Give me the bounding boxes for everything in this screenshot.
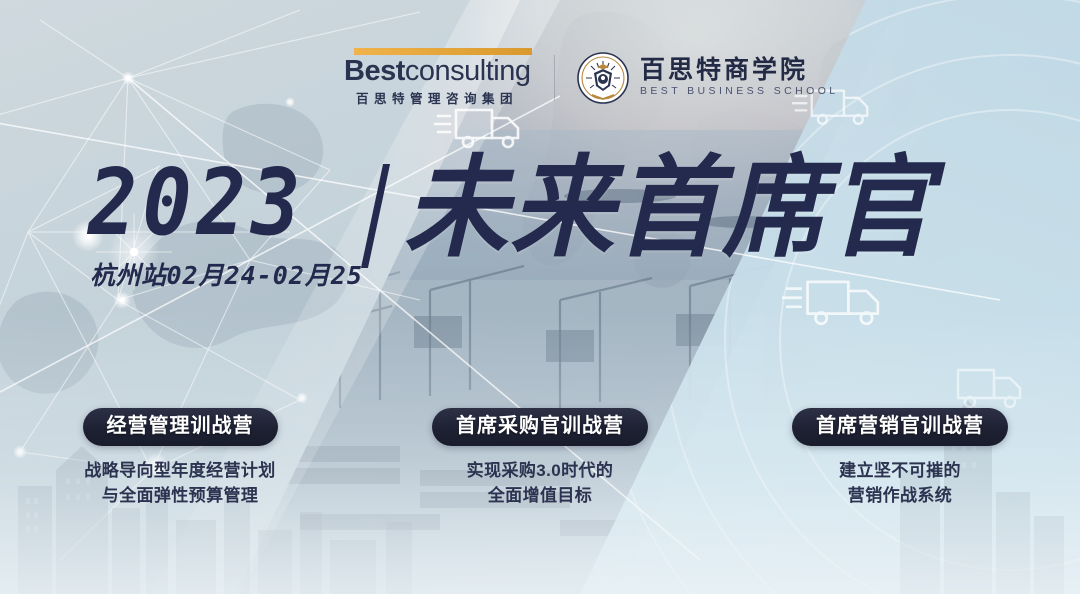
event-city: 杭州站 xyxy=(90,262,167,290)
course-description: 实现采购3.0时代的 全面增值目标 xyxy=(467,459,614,508)
course-card[interactable]: 首席营销官训战营 建立坚不可摧的 营销作战系统 xyxy=(720,408,1080,508)
course-description-line: 与全面弹性预算管理 xyxy=(84,484,275,509)
banner-content: Bestconsulting 百思特管理咨询集团 xyxy=(0,0,1080,594)
course-card-list: 经营管理训战营 战略导向型年度经营计划 与全面弹性预算管理 首席采购官训战营 实… xyxy=(0,408,1080,508)
school-english-name: BEST BUSINESS SCHOOL xyxy=(640,86,839,97)
course-description-line: 战略导向型年度经营计划 xyxy=(84,459,275,484)
course-title: 首席营销官训战营 xyxy=(816,415,984,438)
best-consulting-wordmark: Bestconsulting xyxy=(344,57,532,86)
course-title-pill[interactable]: 经营管理训战营 xyxy=(83,408,278,446)
school-chinese-name: 百思特商学院 xyxy=(640,58,839,83)
event-dateline: 杭州站02月24-02月25 xyxy=(90,263,363,289)
course-description-line: 建立坚不可摧的 xyxy=(839,459,961,484)
best-consulting-logo: Bestconsulting 百思特管理咨询集团 xyxy=(344,48,532,107)
logo-gold-rule xyxy=(354,48,532,55)
course-title: 经营管理训战营 xyxy=(107,415,254,438)
best-business-school-logo: 百思特商学院 BEST BUSINESS SCHOOL xyxy=(577,52,839,104)
best-consulting-word-light: consulting xyxy=(405,55,531,87)
course-card[interactable]: 经营管理训战营 战略导向型年度经营计划 与全面弹性预算管理 xyxy=(0,408,360,508)
logo-bar: Bestconsulting 百思特管理咨询集团 xyxy=(344,48,839,107)
course-description: 战略导向型年度经营计划 与全面弹性预算管理 xyxy=(84,459,275,508)
course-card[interactable]: 首席采购官训战营 实现采购3.0时代的 全面增值目标 xyxy=(360,408,720,508)
logo-divider xyxy=(554,55,555,101)
event-date-range: 02月24-02月25 xyxy=(167,261,363,290)
course-description-line: 全面增值目标 xyxy=(467,484,614,509)
best-consulting-chinese-name: 百思特管理咨询集团 xyxy=(344,88,530,107)
course-description-line: 营销作战系统 xyxy=(839,484,961,509)
event-headline: 未来首席官 xyxy=(404,154,934,264)
academic-crest-icon xyxy=(577,52,629,104)
course-title-pill[interactable]: 首席营销官训战营 xyxy=(792,408,1008,446)
course-title-pill[interactable]: 首席采购官训战营 xyxy=(432,408,648,446)
best-consulting-word-bold: Best xyxy=(344,55,405,87)
event-year: 2023 xyxy=(88,158,305,250)
hero-divider-bar xyxy=(361,164,390,268)
hero-block: 2023 杭州站02月24-02月25 未来首席官 xyxy=(0,150,1080,280)
course-title: 首席采购官训战营 xyxy=(456,415,624,438)
course-description-line: 实现采购3.0时代的 xyxy=(467,459,614,484)
promo-banner: Bestconsulting 百思特管理咨询集团 xyxy=(0,0,1080,594)
course-description: 建立坚不可摧的 营销作战系统 xyxy=(839,459,961,508)
